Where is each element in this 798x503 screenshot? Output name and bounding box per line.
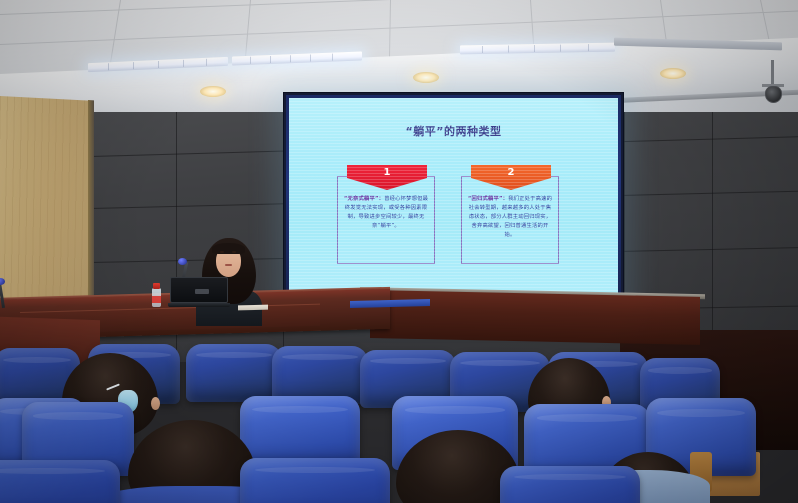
projector-scanlines [289, 98, 618, 302]
downlight-left [200, 86, 226, 97]
downlight-right [660, 68, 686, 79]
wall-corner-edge [88, 100, 94, 326]
lecture-hall-photo: “躺平”的两种类型 1 “无奈式躺平”：曾经心怀梦想但最终发觉无法实现，或受各种… [0, 0, 798, 503]
laptop-base [168, 303, 230, 307]
laptop-screen [170, 277, 228, 303]
seat-front-3[interactable] [500, 466, 640, 503]
seat-mid-3[interactable] [240, 396, 360, 466]
wood-wall-panel-left [0, 96, 94, 327]
laptop-logo [195, 289, 209, 294]
ceiling-speaker [455, 84, 469, 89]
desk-microphone [178, 258, 187, 265]
laptop-computer[interactable] [168, 277, 230, 307]
water-bottle [152, 283, 161, 307]
presenter-mouth [225, 264, 232, 266]
projection-screen[interactable]: “躺平”的两种类型 1 “无奈式躺平”：曾经心怀梦想但最终发觉无法实现，或受各种… [283, 92, 624, 308]
ceiling-sprinkler-left [113, 74, 123, 83]
seat-back-3[interactable] [186, 344, 282, 402]
presentation-slide: “躺平”的两种类型 1 “无奈式躺平”：曾经心怀梦想但最终发觉无法实现，或受各种… [289, 98, 618, 302]
seat-front-1[interactable] [0, 460, 120, 503]
presenter-eye-right [232, 251, 236, 253]
desk-papers [238, 305, 268, 311]
seat-front-2[interactable] [240, 458, 390, 503]
ceiling-sprinkler-center [428, 68, 438, 77]
ceiling-camera [762, 60, 784, 106]
presenter-eye-left [220, 251, 224, 253]
presenter-bangs [212, 243, 245, 254]
